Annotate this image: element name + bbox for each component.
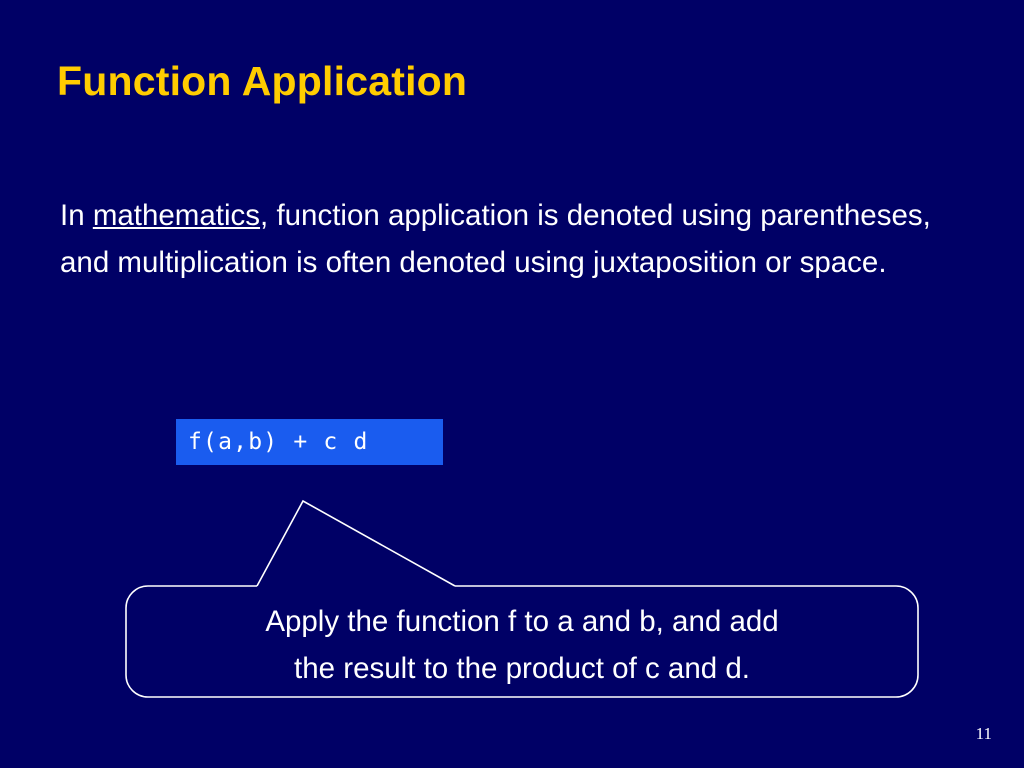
slide: Function Application In mathematics, fun… bbox=[0, 0, 1024, 768]
code-highlight-box: f(a,b) + c d bbox=[176, 419, 443, 465]
body-text-prefix: In bbox=[60, 199, 93, 232]
page-number: 11 bbox=[976, 724, 992, 744]
body-paragraph: In mathematics, function application is … bbox=[60, 192, 940, 286]
code-expression: f(a,b) + c d bbox=[188, 429, 369, 455]
callout-tail bbox=[257, 501, 455, 586]
body-text-emphasis: mathematics bbox=[93, 199, 260, 232]
callout-line-1: Apply the function f to a and b, and add bbox=[126, 598, 918, 645]
callout-text: Apply the function f to a and b, and add… bbox=[126, 598, 918, 692]
callout-line-2: the result to the product of c and d. bbox=[126, 645, 918, 692]
page-title: Function Application bbox=[57, 57, 957, 105]
